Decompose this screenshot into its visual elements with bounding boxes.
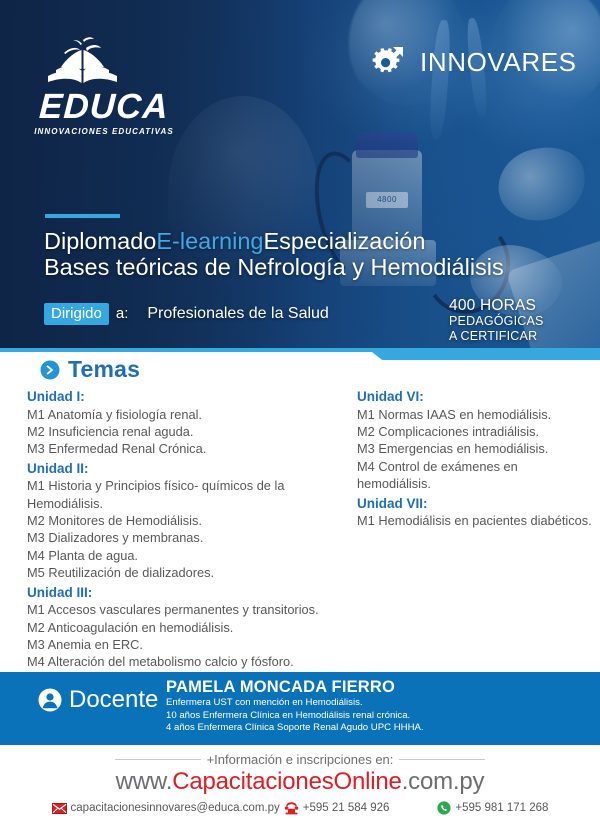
dirigido-suffix: a:	[116, 305, 129, 322]
hours-line-3: A CERTIFICAR	[449, 329, 544, 345]
contact-bar: capacitacionesinnovares@educa.com.py +59…	[0, 796, 600, 820]
title-accent-rule	[45, 214, 120, 218]
module-item: M1 Hemodiálisis en pacientes diabéticos.	[357, 512, 592, 529]
website-line[interactable]: www.CapacitacionesOnline.com.py	[0, 768, 600, 796]
hero-banner: 4800 EDUCA	[0, 0, 600, 360]
module-item: M1 Accesos vasculares permanentes y tran…	[27, 601, 347, 618]
audience-value: Profesionales de la Salud	[147, 305, 328, 323]
module-item: M3 Anemia en ERC.	[27, 636, 347, 653]
info-rule-left	[115, 759, 201, 760]
instructor-band: Docente PAMELA MONCADA FIERRO Enfermera …	[0, 672, 600, 745]
instructor-credential: Enfermera UST con mención en Hemodiálisi…	[166, 697, 424, 710]
unit-title: Unidad I:	[27, 388, 347, 406]
phone-number: +595 21 584 926	[303, 802, 390, 814]
whatsapp-contact[interactable]: +595 981 171 268	[437, 801, 548, 815]
topics-column-left: Unidad I:M1 Anatomía y fisiología renal.…	[27, 388, 347, 671]
unit-title: Unidad II:	[27, 460, 347, 478]
module-item: M1 Anatomía y fisiología renal.	[27, 406, 347, 423]
unit-title: Unidad III:	[27, 584, 347, 602]
whatsapp-number: +595 981 171 268	[455, 802, 548, 814]
hero-title-line2: Bases teóricas de Nefrología y Hemodiáli…	[44, 254, 504, 280]
module-item: M2 Insuficiencia renal aguda.	[27, 423, 347, 440]
dirigido-badge: Dirigido	[44, 303, 109, 325]
hours-block: 400 HORAS PEDAGÓGICAS A CERTIFICAR	[449, 298, 544, 345]
phone-contact[interactable]: +595 21 584 926	[284, 801, 390, 815]
instructor-label-group: Docente	[38, 686, 158, 714]
instructor-name: PAMELA MONCADA FIERRO	[166, 677, 424, 697]
flyer-page: 4800 EDUCA	[0, 0, 600, 820]
envelope-icon	[52, 803, 67, 814]
module-item: M2 Complicaciones intradiálisis.	[357, 423, 592, 440]
module-item: M4 Alteración del metabolismo calcio y f…	[27, 653, 347, 670]
topics-column-right: Unidad VI:M1 Normas IAAS en hemodiálisis…	[357, 388, 592, 529]
educa-tagline: INNOVACIONES EDUCATIVAS	[34, 127, 174, 136]
hero-title: DiplomadoE-learningEspecialización Bases…	[44, 228, 514, 280]
topics-header: Temas	[40, 356, 140, 383]
telephone-icon	[284, 801, 299, 815]
email-contact[interactable]: capacitacionesinnovares@educa.com.py	[52, 802, 280, 814]
gear-arrow-icon	[372, 44, 410, 80]
email-address: capacitacionesinnovares@educa.com.py	[71, 802, 280, 814]
whatsapp-icon	[437, 801, 451, 815]
module-item: M2 Monitores de Hemodiálisis.	[27, 512, 347, 529]
website-prefix: www.	[116, 768, 173, 795]
instructor-label: Docente	[69, 686, 158, 714]
website-suffix: .com.py	[402, 768, 485, 795]
instructor-credential: 4 años Enfermera Clínica Soporte Renal A…	[166, 722, 424, 735]
module-item: M1 Normas IAAS en hemodiálisis.	[357, 406, 592, 423]
module-item: M3 Dializadores y membranas.	[27, 529, 347, 546]
more-info-line: +Información e inscripciones en:	[0, 752, 600, 767]
hours-line-2: PEDAGÓGICAS	[449, 314, 544, 330]
module-item: M5 Reutilización de dializadores.	[27, 564, 347, 581]
hero-title-part2: Especialización	[263, 228, 425, 254]
unit-title: Unidad VI:	[357, 388, 592, 406]
instructor-credential: 10 años Enfermera Clínica en Hemodiálisi…	[166, 710, 424, 723]
module-item: M4 Planta de agua.	[27, 547, 347, 564]
open-book-icon	[34, 36, 174, 88]
module-item: M3 Enfermedad Renal Crónica.	[27, 440, 347, 457]
hero-title-highlight: E-learning	[156, 228, 263, 254]
more-info-text: +Información e inscripciones en:	[207, 752, 394, 767]
module-item: M1 Historia y Principios físico- químico…	[27, 477, 347, 512]
website-brand: CapacitacionesOnline	[172, 768, 401, 795]
info-rule-right	[399, 759, 485, 760]
instructor-details: PAMELA MONCADA FIERRO Enfermera UST con …	[166, 677, 424, 735]
educa-logo[interactable]: EDUCA INNOVACIONES EDUCATIVAS	[34, 36, 174, 136]
unit-title: Unidad VII:	[357, 495, 592, 513]
module-item: M2 Anticoagulación en hemodiálisis.	[27, 619, 347, 636]
innovares-logo[interactable]: INNOVARES	[372, 44, 577, 80]
module-item: M4 Control de exámenes en hemodiálisis.	[357, 458, 592, 493]
hero-title-part1: Diplomado	[44, 228, 156, 254]
topics-title: Temas	[68, 356, 140, 383]
audience-row: Dirigido a: Profesionales de la Salud	[44, 303, 329, 325]
hours-line-1: 400 HORAS	[449, 298, 544, 314]
person-icon	[38, 688, 62, 712]
educa-wordmark: EDUCA	[33, 89, 175, 124]
module-item: M3 Emergencias en hemodiálisis.	[357, 440, 592, 457]
innovares-wordmark: INNOVARES	[420, 47, 577, 78]
arrow-circle-icon	[40, 360, 60, 380]
